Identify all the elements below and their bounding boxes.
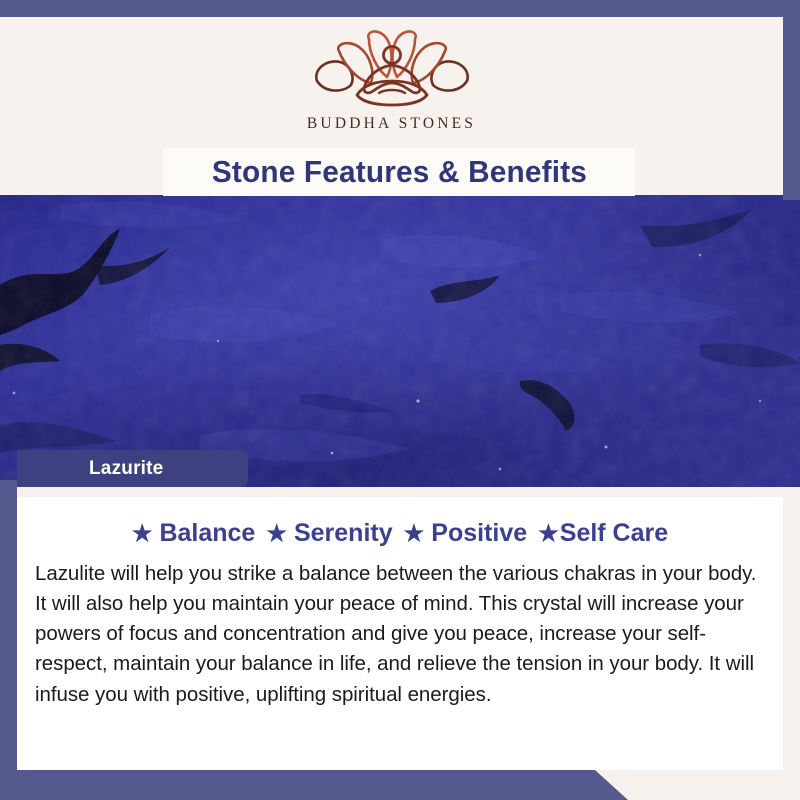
benefit-item-balance: ★ Balance (132, 519, 267, 548)
benefits-row: ★ Balance ★ Serenity ★ Positive ★ Self C… (35, 519, 765, 548)
benefit-label: Balance (159, 519, 255, 548)
benefit-item-positive: ★ Positive (404, 519, 539, 548)
brand-logo: BUDDHA STONES (0, 25, 783, 133)
lotus-meditation-icon (307, 25, 477, 113)
content-card: ★ Balance ★ Serenity ★ Positive ★ Self C… (17, 497, 783, 770)
star-icon: ★ (266, 522, 287, 545)
page-title: Stone Features & Benefits (211, 154, 586, 190)
benefit-label: Positive (431, 519, 527, 548)
benefit-label: Self Care (560, 519, 668, 548)
star-icon: ★ (538, 522, 559, 545)
frame-left-band (0, 480, 17, 800)
stone-description: Lazulite will help you strike a balance … (35, 559, 765, 710)
benefit-item-serenity: ★ Serenity (266, 519, 403, 548)
stone-photo (0, 195, 800, 487)
star-icon: ★ (132, 522, 153, 545)
stone-name-banner: Lazurite (17, 450, 248, 487)
page-title-plaque: Stone Features & Benefits (163, 148, 635, 196)
benefit-item-self-care: ★ Self Care (538, 519, 668, 548)
brand-name: BUDDHA STONES (307, 115, 476, 133)
stone-name-label: Lazurite (17, 458, 163, 480)
frame-bottom-band (0, 770, 628, 800)
frame-top-band (0, 0, 800, 17)
photo-card-gap (0, 487, 800, 497)
star-icon: ★ (404, 522, 425, 545)
benefit-label: Serenity (294, 519, 393, 548)
frame-right-band (783, 0, 800, 200)
